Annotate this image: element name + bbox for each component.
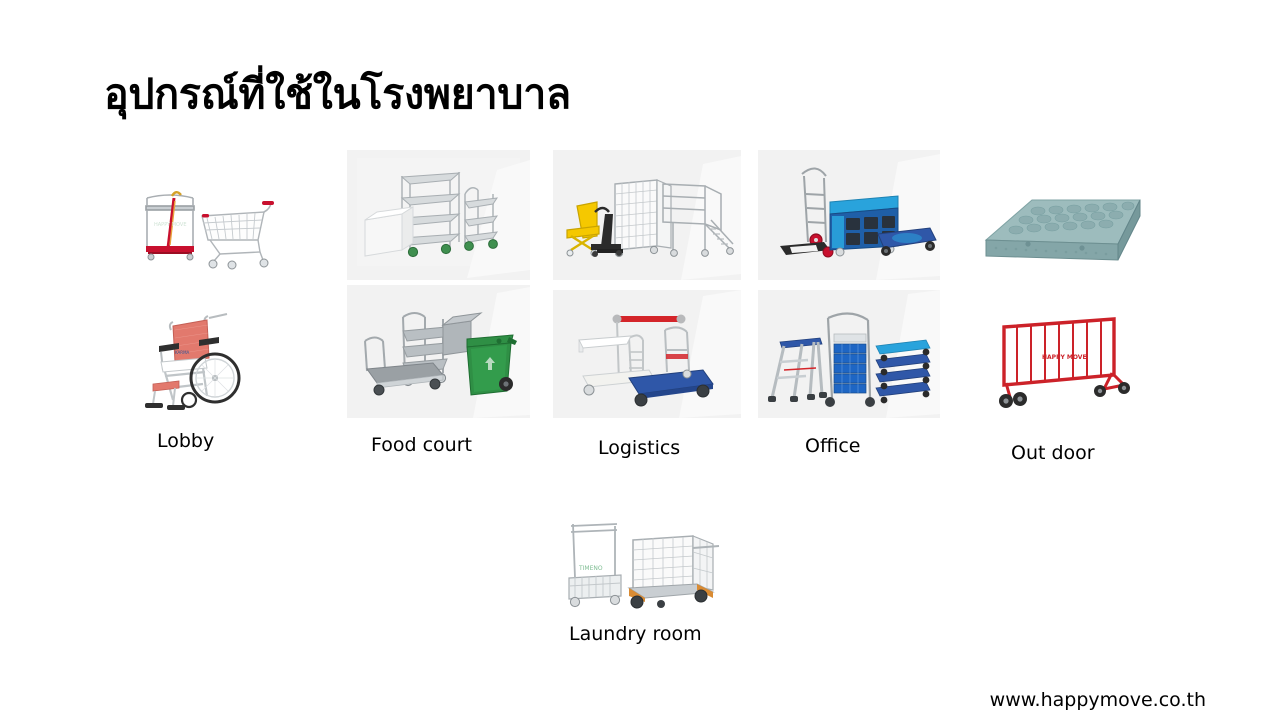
image-laundry-equipment: TIMENO [557, 512, 722, 617]
image-ladder-dolly-equipment [758, 290, 940, 418]
caption-logistics: Logistics [598, 437, 680, 459]
image-outdoor-equipment [970, 178, 1155, 278]
watermark-text: TIMENO [578, 565, 603, 572]
svg-text:HAPPY MOVE: HAPPY MOVE [154, 222, 187, 228]
svg-text:KARMA: KARMA [175, 350, 190, 355]
image-housekeeping-equipment [347, 285, 530, 418]
image-office-equipment [758, 150, 940, 280]
image-platform-trolley-equipment [553, 290, 741, 418]
page-title: อุปกรณ์ที่ใช้ในโรงพยาบาล [104, 70, 571, 119]
footer-website-url: www.happymove.co.th [990, 689, 1206, 711]
caption-out-door: Out door [1011, 442, 1095, 464]
caption-laundry-room: Laundry room [569, 623, 702, 645]
image-logistics-equipment [553, 150, 741, 280]
caption-office: Office [805, 435, 860, 457]
caption-lobby: Lobby [157, 430, 214, 452]
barrier-brand-text: HAPPY MOVE [1042, 354, 1087, 361]
image-crowd-barrier: HAPPY MOVE [990, 305, 1130, 413]
image-lobby-equipment: HAPPY MOVE [128, 168, 284, 280]
image-wheelchair: KARMA [143, 296, 243, 418]
image-food-court-equipment [347, 150, 530, 280]
caption-food-court: Food court [371, 434, 472, 456]
